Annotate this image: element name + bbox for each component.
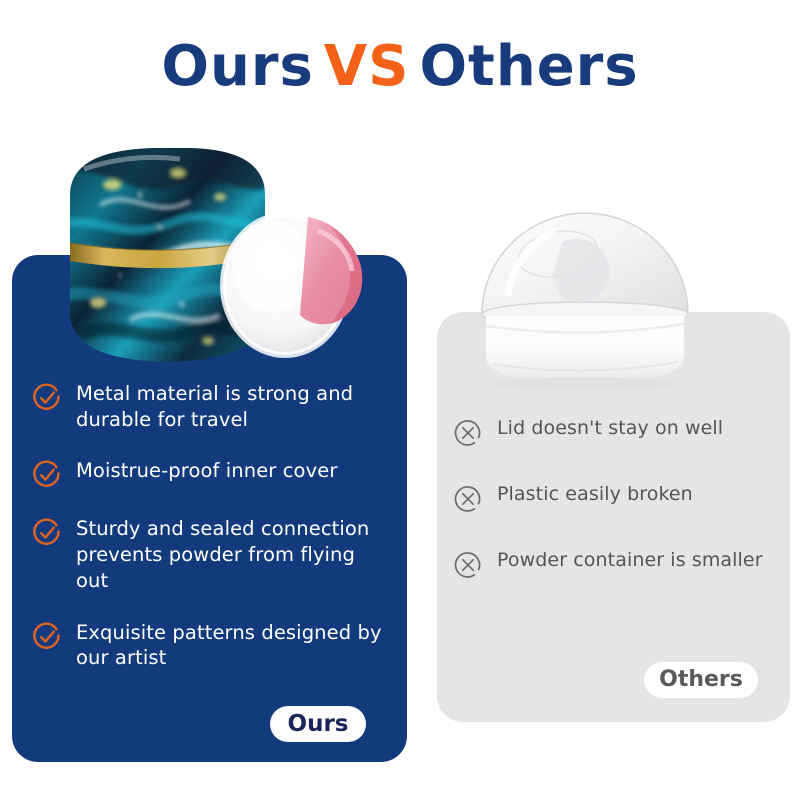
others-feature-list: Lid doesn't stay on well Plastic easily …: [437, 416, 790, 614]
list-item: Exquisite patterns designed by our artis…: [32, 620, 385, 671]
circle-check-icon: [32, 383, 62, 413]
others-badge: Others: [644, 662, 758, 698]
list-item-label: Moistrue-proof inner cover: [76, 458, 337, 484]
title-ours: Ours: [161, 34, 313, 99]
circle-check-icon: [32, 622, 62, 652]
others-product-image: [452, 192, 718, 390]
list-item: Sturdy and sealed connection prevents po…: [32, 516, 385, 593]
list-item: Moistrue-proof inner cover: [32, 458, 385, 490]
list-item-label: Exquisite patterns designed by our artis…: [76, 620, 385, 671]
list-item: Plastic easily broken: [453, 482, 772, 514]
list-item: Lid doesn't stay on well: [453, 416, 772, 448]
title-others: Others: [419, 34, 638, 99]
list-item-label: Sturdy and sealed connection prevents po…: [76, 516, 385, 593]
circle-cross-icon: [453, 550, 483, 580]
ours-feature-list: Metal material is strong and durable for…: [12, 381, 407, 697]
list-item-label: Powder container is smaller: [497, 548, 763, 573]
circle-check-icon: [32, 518, 62, 548]
list-item: Powder container is smaller: [453, 548, 772, 580]
list-item-label: Lid doesn't stay on well: [497, 416, 723, 441]
title-vs: VS: [324, 34, 410, 99]
ours-product-image: [60, 135, 400, 390]
circle-cross-icon: [453, 484, 483, 514]
circle-cross-icon: [453, 418, 483, 448]
circle-check-icon: [32, 460, 62, 490]
page-title: OursVSOthers: [0, 34, 800, 99]
list-item-label: Plastic easily broken: [497, 482, 693, 507]
ours-badge: Ours: [270, 706, 366, 742]
